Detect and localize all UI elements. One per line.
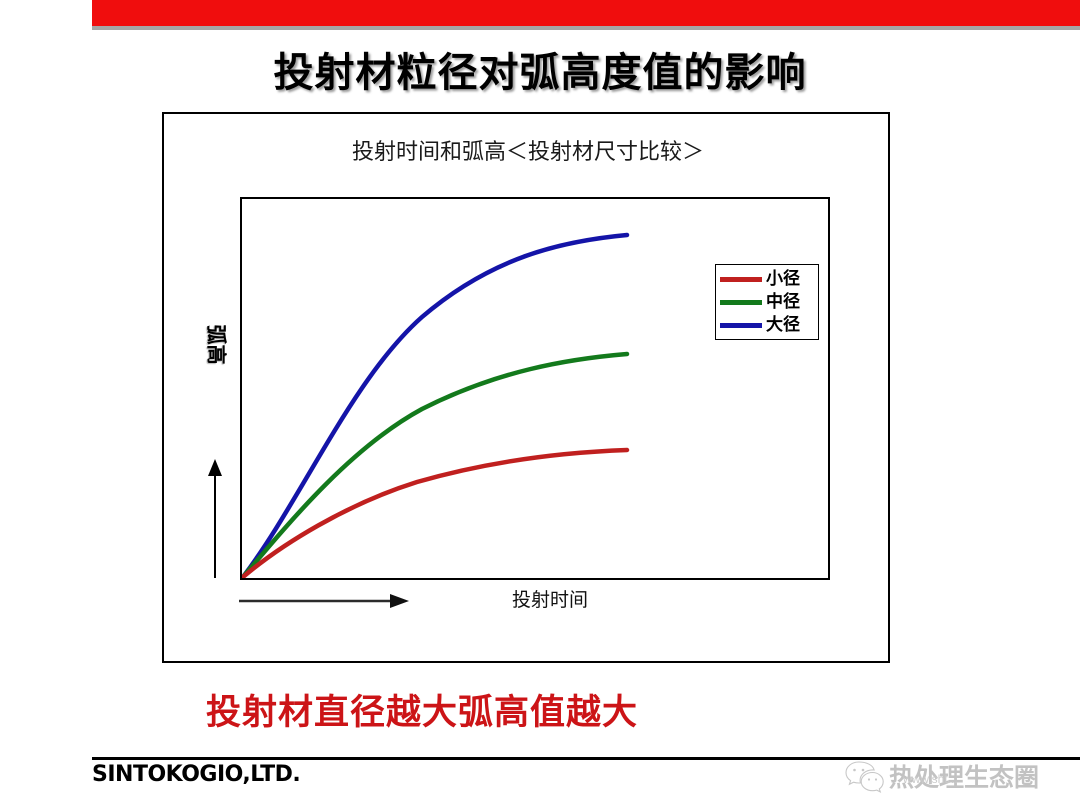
series-line-medium bbox=[243, 354, 627, 577]
y-axis-arrow-icon bbox=[200, 458, 230, 580]
curves-svg bbox=[242, 199, 828, 578]
summary-caption: 投射材直径越大弧高值越大 bbox=[162, 684, 682, 735]
page-title: 投射材粒径对弧高度值的影响 bbox=[0, 40, 1080, 98]
legend-swatch-large bbox=[720, 323, 762, 328]
series-line-large bbox=[243, 235, 627, 577]
top-red-banner bbox=[92, 0, 1080, 26]
legend-label-small: 小径 bbox=[766, 271, 800, 288]
chart-frame: 投射时间和弧高＜投射材尺寸比较＞ 小径 中径 大径 bbox=[162, 112, 890, 663]
x-axis-label: 投射时间 bbox=[440, 585, 660, 612]
legend-label-large: 大径 bbox=[766, 317, 800, 334]
legend-swatch-small bbox=[720, 277, 762, 282]
top-banner-underline bbox=[92, 26, 1080, 30]
wechat-icon bbox=[845, 759, 885, 793]
legend-label-medium: 中径 bbox=[766, 294, 800, 311]
y-axis-label: 弧高 bbox=[204, 310, 233, 380]
chart-legend: 小径 中径 大径 bbox=[715, 264, 819, 340]
watermark-text: 热处理生态圈 bbox=[889, 763, 1039, 792]
watermark-text-wrap: 热处理生态圈 www.sht... bbox=[889, 758, 1039, 794]
footer-brand: SINTOKOGIO,LTD. bbox=[92, 762, 300, 787]
footer-divider bbox=[92, 757, 1080, 760]
x-axis-arrow-icon bbox=[238, 592, 410, 610]
legend-swatch-medium bbox=[720, 300, 762, 305]
plot-area bbox=[240, 197, 830, 580]
legend-item-small: 小径 bbox=[720, 268, 814, 291]
chart-title: 投射时间和弧高＜投射材尺寸比较＞ bbox=[164, 134, 892, 166]
legend-item-medium: 中径 bbox=[720, 291, 814, 314]
legend-item-large: 大径 bbox=[720, 314, 814, 337]
watermark-url: www.sht... bbox=[903, 772, 958, 786]
